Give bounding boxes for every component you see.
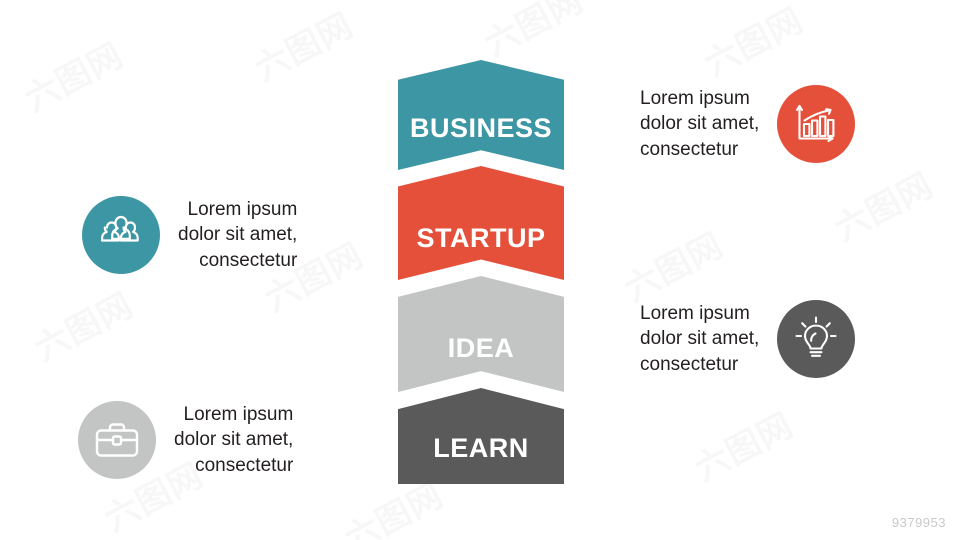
callout-idea-text: Lorem ipsum dolor sit amet, consectetur: [640, 301, 759, 378]
callout-case-text: Lorem ipsum dolor sit amet, consectetur: [174, 402, 293, 479]
stock-id-number: 9379953: [892, 515, 946, 530]
callout-growth[interactable]: Lorem ipsum dolor sit amet, consectetur: [640, 85, 855, 163]
watermark-tile: 六图网: [685, 398, 801, 491]
callout-growth-text: Lorem ipsum dolor sit amet, consectetur: [640, 86, 759, 163]
funnel-step-idea[interactable]: IDEA: [398, 276, 564, 392]
watermark-tile: 六图网: [695, 0, 811, 86]
bar-chart-growth-icon: [777, 85, 855, 163]
watermark-tile: 六图网: [15, 28, 131, 121]
funnel-step-learn[interactable]: LEARN: [398, 388, 564, 484]
funnel-step-startup-label: STARTUP: [398, 225, 564, 252]
callout-case[interactable]: Lorem ipsum dolor sit amet, consectetur: [78, 401, 293, 479]
watermark-tile: 六图网: [825, 158, 941, 251]
funnel-step-business[interactable]: BUSINESS: [398, 60, 564, 170]
lightbulb-icon: [777, 300, 855, 378]
callout-team-text: Lorem ipsum dolor sit amet, consectetur: [178, 197, 297, 274]
briefcase-icon: [78, 401, 156, 479]
watermark-tile: 六图网: [245, 0, 361, 91]
callout-team[interactable]: Lorem ipsum dolor sit amet, consectetur: [82, 196, 297, 274]
group-people-icon: [82, 196, 160, 274]
watermark-tile: 六图网: [615, 218, 731, 311]
watermark-tile: 六图网: [25, 278, 141, 371]
funnel-chevron-stack: BUSINESS STARTUP IDEA LEARN: [398, 60, 564, 484]
funnel-step-learn-label: LEARN: [398, 435, 564, 462]
funnel-step-business-label: BUSINESS: [398, 115, 564, 142]
funnel-step-startup[interactable]: STARTUP: [398, 166, 564, 280]
callout-idea[interactable]: Lorem ipsum dolor sit amet, consectetur: [640, 300, 855, 378]
funnel-step-idea-label: IDEA: [398, 335, 564, 362]
watermark-tile: 六图网: [475, 0, 591, 66]
